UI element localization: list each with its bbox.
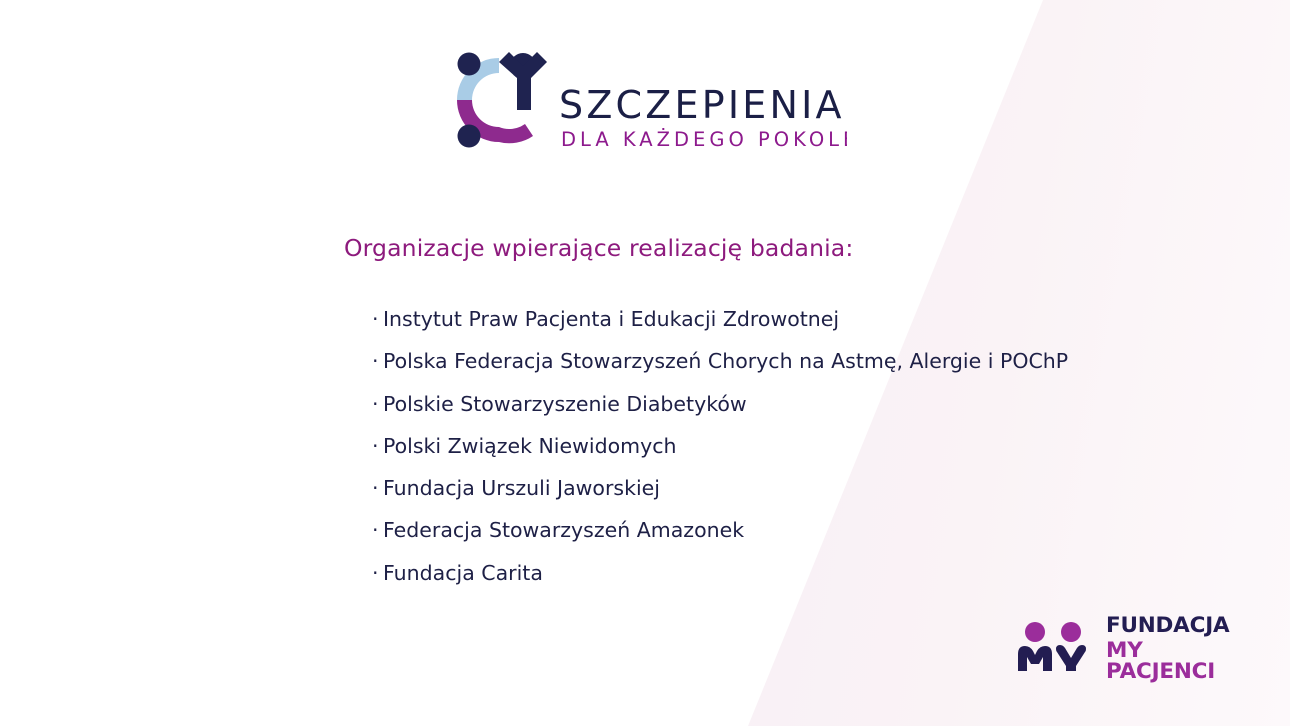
footer-wordmark: FUNDACJA MY PACJENCI xyxy=(1106,615,1238,683)
bullet-icon: · xyxy=(372,305,383,333)
list-item: ·Polski Związek Niewidomych xyxy=(372,432,1068,474)
list-item-label: Fundacja Urszuli Jaworskiej xyxy=(383,476,660,500)
my-mark-letter-y xyxy=(1056,645,1086,671)
list-item-label: Instytut Praw Pacjenta i Edukacji Zdrowo… xyxy=(383,307,839,331)
logo-dot-bottom xyxy=(458,125,481,148)
list-item: ·Polskie Stowarzyszenie Diabetyków xyxy=(372,390,1068,432)
logo-wordmark: SZCZEPIENIA xyxy=(559,83,845,127)
bullet-icon: · xyxy=(372,516,383,544)
presentation-slide: SZCZEPIENIA DLA KAŻDEGO POKOLENIA Organi… xyxy=(0,0,1290,726)
list-item-label: Fundacja Carita xyxy=(383,561,543,585)
logo-dot-top xyxy=(458,53,481,76)
my-mark-head-left xyxy=(1025,622,1045,642)
my-figures-icon xyxy=(1014,621,1096,677)
list-item-label: Polska Federacja Stowarzyszeń Chorych na… xyxy=(383,349,1068,373)
list-item-label: Federacja Stowarzyszeń Amazonek xyxy=(383,518,744,542)
my-mark-head-right xyxy=(1061,622,1081,642)
bullet-icon: · xyxy=(372,432,383,460)
list-item: ·Federacja Stowarzyszeń Amazonek xyxy=(372,516,1068,558)
bullet-icon: · xyxy=(372,347,383,375)
list-item: ·Polska Federacja Stowarzyszeń Chorych n… xyxy=(372,347,1068,389)
footer-line-fundacja: FUNDACJA xyxy=(1106,615,1238,637)
list-item: ·Instytut Praw Pacjenta i Edukacji Zdrow… xyxy=(372,305,1068,347)
bullet-icon: · xyxy=(372,559,383,587)
logo-arc-purple-tail xyxy=(499,124,533,143)
footer-line-my-pacjenci: MY PACJENCI xyxy=(1106,640,1238,683)
list-item-label: Polski Związek Niewidomych xyxy=(383,434,677,458)
my-mark-letter-m xyxy=(1018,646,1052,671)
list-item: ·Fundacja Urszuli Jaworskiej xyxy=(372,474,1068,516)
bullet-icon: · xyxy=(372,474,383,502)
fundacja-my-pacjenci-logo: FUNDACJA MY PACJENCI xyxy=(1014,621,1238,677)
logo-tagline: DLA KAŻDEGO POKOLENIA xyxy=(561,128,847,151)
list-item: ·Fundacja Carita xyxy=(372,559,1068,601)
bullet-icon: · xyxy=(372,390,383,418)
section-heading: Organizacje wpierające realizację badani… xyxy=(344,234,853,262)
organizations-list: ·Instytut Praw Pacjenta i Edukacji Zdrow… xyxy=(372,305,1068,601)
list-item-label: Polskie Stowarzyszenie Diabetyków xyxy=(383,392,747,416)
szczepienia-logo: SZCZEPIENIA DLA KAŻDEGO POKOLENIA xyxy=(447,38,847,158)
